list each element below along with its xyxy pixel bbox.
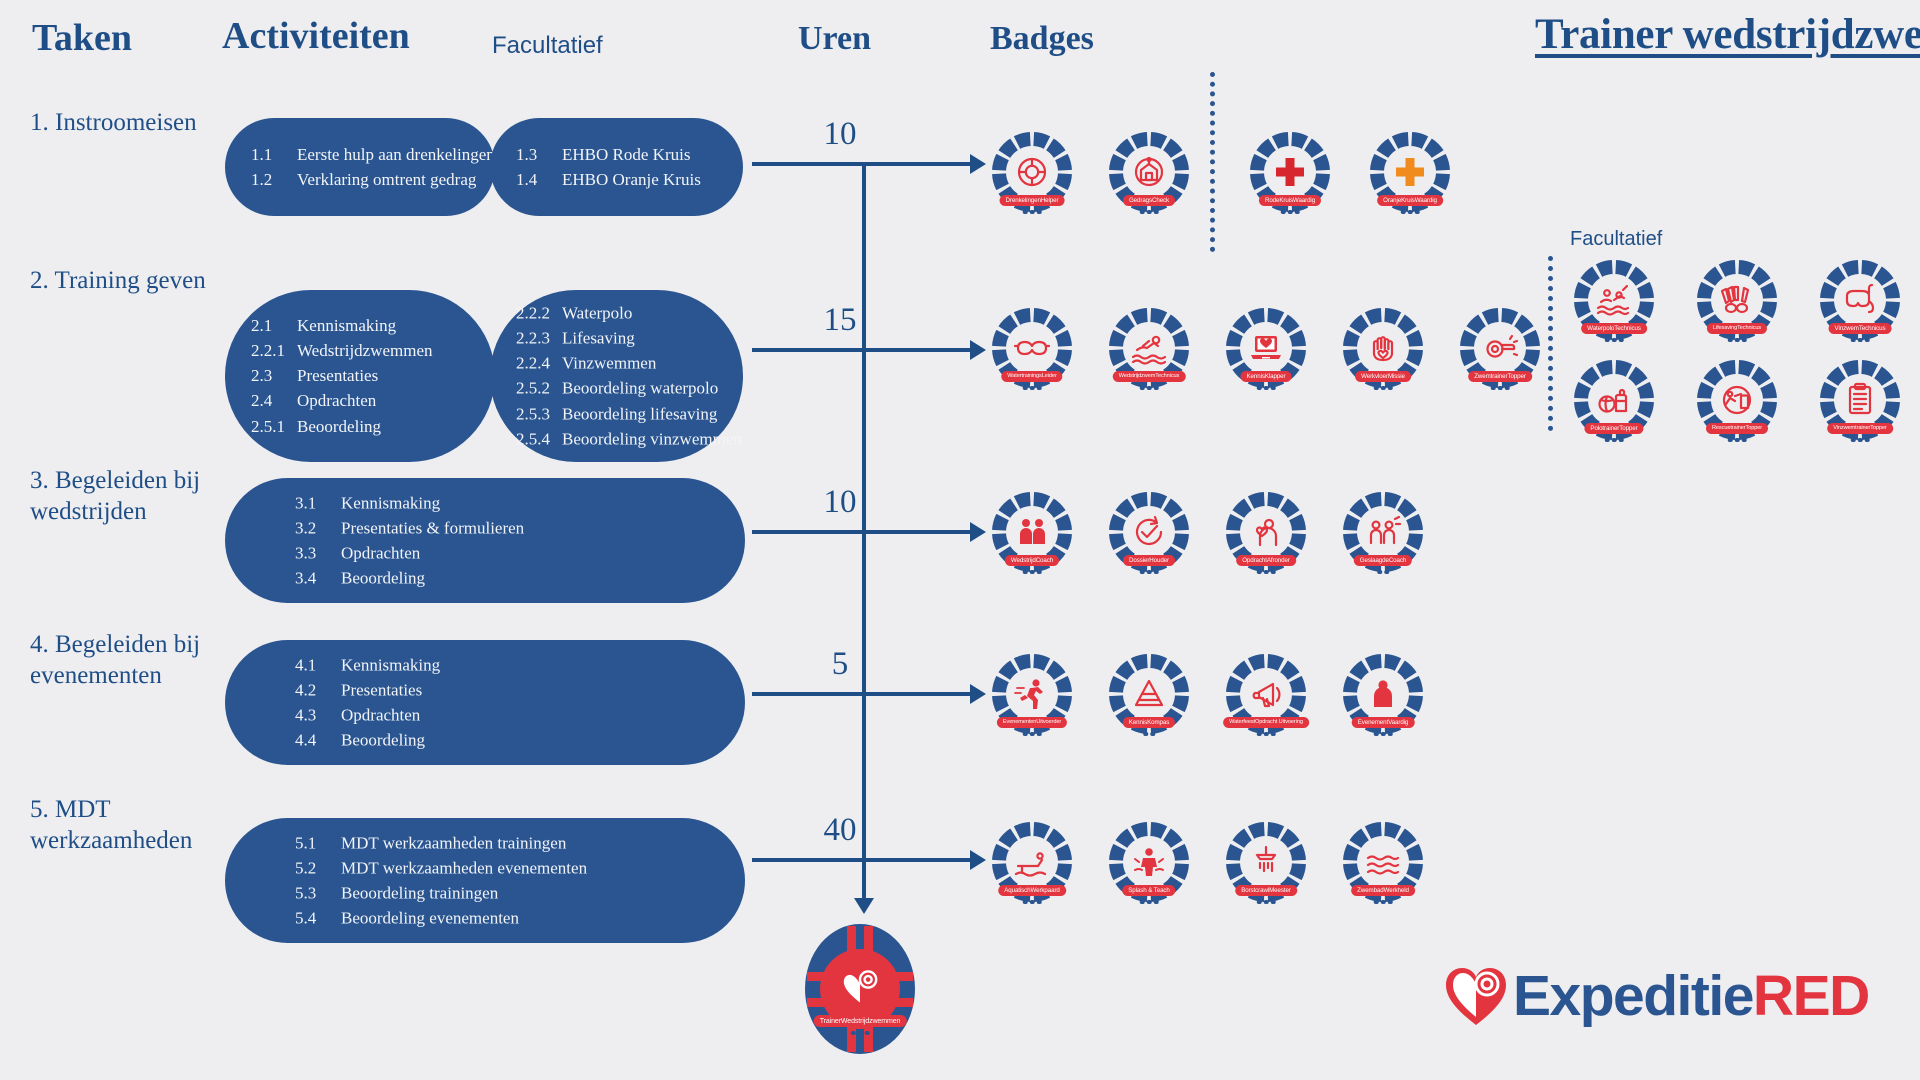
badge-label: EvenementenUitvoerder — [997, 717, 1067, 728]
badge-stars — [1140, 210, 1159, 215]
badge-stars — [1257, 386, 1276, 391]
flow-arrow-head — [970, 850, 986, 870]
activity-item: 2.1Kennismaking — [251, 313, 433, 338]
badge-stars — [1023, 210, 1042, 215]
hours-value: 15 — [795, 302, 885, 339]
badge[interactable]: WedstrijdCoach — [990, 490, 1074, 574]
task-label: 5. MDT werkzaamheden — [30, 795, 235, 856]
badge-stars — [1374, 386, 1393, 391]
hours-value: 10 — [795, 116, 885, 153]
badge-label: KennisKlapper — [1241, 371, 1292, 382]
facultatief-group-label: Facultatief — [1570, 228, 1662, 251]
badge[interactable]: OpdrachtAfronder — [1224, 490, 1308, 574]
badge-stars — [851, 1031, 870, 1036]
activity-item: 4.1Kennismaking — [295, 652, 440, 677]
badge-stars — [1374, 900, 1393, 905]
badge-label: BorstcrawlMeester — [1235, 885, 1297, 896]
page-title: Trainer wedstrijdzwemmen — [1535, 10, 1920, 59]
badge-label: WerkvloerMissie — [1355, 371, 1411, 382]
badge-stars — [1140, 570, 1159, 575]
column-header-badges: Badges — [990, 20, 1094, 58]
infographic-canvas: Taken Activiteiten Facultatief Uren Badg… — [0, 0, 1920, 1080]
badge[interactable]: KennisKlapper — [1224, 306, 1308, 390]
badge[interactable]: WatertrainingsLeider — [990, 306, 1074, 390]
activity-item: 2.2.1Wedstrijdzwemmen — [251, 338, 433, 363]
badge[interactable]: WaterfeestOpdracht Uitvoering — [1224, 652, 1308, 736]
activity-item: 2.4Opdrachten — [251, 389, 433, 414]
activity-item: 3.3Opdrachten — [295, 541, 524, 566]
badge-label: WaterfeestOpdracht Uitvoering — [1223, 717, 1309, 728]
activity-pill-main: 4.1Kennismaking4.2Presentaties4.3Opdrach… — [225, 640, 745, 765]
badge-stars — [1728, 338, 1747, 343]
column-header-taken: Taken — [32, 16, 132, 60]
brand-logo: ExpeditieRED — [1443, 963, 1869, 1029]
badge-stars — [1023, 732, 1042, 737]
badge-stars — [1140, 386, 1159, 391]
badge-optional[interactable]: VinzwemTechnicus — [1818, 258, 1902, 342]
flow-arrow-head — [970, 340, 986, 360]
badge-stars — [1257, 900, 1276, 905]
badge-label: WedstrijdCoach — [1005, 555, 1059, 566]
final-badge[interactable]: TrainerWedstrijdzwemmen — [795, 922, 925, 1057]
badge-label: ZwembadWerkheld — [1351, 885, 1415, 896]
column-header-facultatief: Facultatief — [492, 32, 603, 60]
activity-item: 4.3Opdrachten — [295, 703, 440, 728]
activity-item: 2.3Presentaties — [251, 363, 433, 388]
activity-item: 3.4Beoordeling — [295, 566, 524, 591]
badge-label: AquatischWerkpaard — [998, 885, 1066, 896]
badge-label: EvenementVaardig — [1352, 717, 1415, 728]
badge-optional[interactable]: OranjeKruisWaardig — [1368, 130, 1452, 214]
activity-item-optional: 1.4EHBO Oranje Kruis — [516, 167, 701, 192]
badge-label: VinzwemTechnicus — [1829, 323, 1892, 334]
activity-item-optional: 2.5.3Beoordeling lifesaving — [516, 401, 742, 426]
badge-stars — [1401, 210, 1420, 215]
badge-label: OpdrachtAfronder — [1236, 555, 1296, 566]
task-label: 4. Begeleiden bij evenementen — [30, 630, 235, 691]
badge-stars — [1257, 570, 1276, 575]
activity-item-optional: 2.5.2Beoordeling waterpolo — [516, 376, 742, 401]
task-label: 3. Begeleiden bij wedstrijden — [30, 466, 235, 527]
badge-stars — [1143, 732, 1155, 737]
activity-item-optional: 2.2.3Lifesaving — [516, 326, 742, 351]
badge-stars — [1728, 438, 1747, 443]
badge[interactable]: WerkvloerMissie — [1341, 306, 1425, 390]
hours-value: 10 — [795, 484, 885, 521]
badge-label: RescuetrainerTopper — [1706, 423, 1768, 434]
badge-stars — [1851, 438, 1870, 443]
badge-optional[interactable]: LifesavingTechnicus — [1695, 258, 1779, 342]
badge-optional[interactable]: RescuetrainerTopper — [1695, 358, 1779, 442]
badge-label: PolotrainerTopper — [1584, 423, 1643, 434]
badge-label: DossierHouder — [1123, 555, 1175, 566]
activity-pill-main: 1.1Eerste hulp aan drenkelingen1.2Verkla… — [225, 118, 495, 216]
badge-stars — [1023, 900, 1042, 905]
activity-item: 4.4Beoordeling — [295, 728, 440, 753]
logo-text-prefix: Expeditie — [1513, 964, 1753, 1028]
heart-lifebuoy-logo-icon — [1443, 965, 1509, 1027]
badge[interactable]: GeslaagdeCoach — [1341, 490, 1425, 574]
badge-label: DrenkelingenHelper — [1000, 195, 1065, 206]
badge-label: TrainerWedstrijdzwemmen — [814, 1015, 907, 1027]
badge[interactable]: DrenkelingenHelper — [990, 130, 1074, 214]
badge[interactable]: EvenementVaardig — [1341, 652, 1425, 736]
badge-label: WedstrijdzwemTechnicus — [1113, 371, 1186, 382]
badge-stars — [1023, 570, 1042, 575]
badge-stars — [1257, 732, 1276, 737]
badge-label: KennisKompas — [1123, 717, 1175, 728]
badge[interactable]: AquatischWerkpaard — [990, 820, 1074, 904]
badge-stars — [1491, 386, 1510, 391]
badge-label: GeslaagdeCoach — [1354, 555, 1412, 566]
badge-label: WatertrainingsLeider — [1001, 371, 1062, 382]
activity-item: 3.1Kennismaking — [295, 490, 524, 515]
activity-item: 4.2Presentaties — [295, 677, 440, 702]
column-header-activiteiten: Activiteiten — [222, 14, 410, 58]
badge-label: WaterpoloTechnicus — [1581, 323, 1647, 334]
activity-pill-optional: 1.3EHBO Rode Kruis1.4EHBO Oranje Kruis — [490, 118, 743, 216]
badge-optional[interactable]: PolotrainerTopper — [1572, 358, 1656, 442]
task-label: 2. Training geven — [30, 266, 235, 297]
activity-pill-main: 2.1Kennismaking2.2.1Wedstrijdzwemmen2.3P… — [225, 290, 495, 462]
flow-arrow-head — [970, 154, 986, 174]
badge-label: OranjeKruisWaardig — [1377, 195, 1443, 206]
badge[interactable]: WedstrijdzwemTechnicus — [1107, 306, 1191, 390]
task-label: 1. Instroomeisen — [30, 108, 235, 139]
flow-spine-arrow — [854, 898, 874, 914]
hours-value: 5 — [795, 646, 885, 683]
activity-item: 5.3Beoordeling trainingen — [295, 881, 587, 906]
activity-item-optional: 1.3EHBO Rode Kruis — [516, 142, 701, 167]
activity-item: 1.2Verklaring omtrent gedrag — [251, 167, 495, 192]
badge-label: RodeKruisWaardig — [1259, 195, 1321, 206]
badge[interactable]: ZwembadWerkheld — [1341, 820, 1425, 904]
activity-item-optional: 2.2.2Waterpolo — [516, 301, 742, 326]
badge-optional[interactable]: VinzwemtrainerTopper — [1818, 358, 1902, 442]
badge-stars — [1140, 900, 1159, 905]
divider-training-facultatief — [1548, 256, 1553, 431]
badge-optional[interactable]: RodeKruisWaardig — [1248, 130, 1332, 214]
badge-stars — [1281, 210, 1300, 215]
badge-stars — [1605, 438, 1624, 443]
badge-stars — [1374, 732, 1393, 737]
activity-item: 5.2MDT werkzaamheden evenementen — [295, 855, 587, 880]
activity-item: 5.1MDT werkzaamheden trainingen — [295, 830, 587, 855]
badge[interactable]: GedragsCheck — [1107, 130, 1191, 214]
badge-stars — [1605, 338, 1624, 343]
activity-pill-main: 3.1Kennismaking3.2Presentaties & formuli… — [225, 478, 745, 603]
badge-label: GedragsCheck — [1123, 195, 1175, 206]
badge[interactable]: DossierHouder — [1107, 490, 1191, 574]
badge-label: VinzwemtrainerTopper — [1827, 423, 1893, 434]
flow-spine — [862, 162, 866, 902]
badge[interactable]: BorstcrawlMeester — [1224, 820, 1308, 904]
activity-item-optional: 2.5.4Beoordeling vinzwemmen — [516, 426, 742, 451]
logo-text-suffix: RED — [1753, 964, 1869, 1028]
activity-item: 3.2Presentaties & formulieren — [295, 515, 524, 540]
activity-pill-main: 5.1MDT werkzaamheden trainingen5.2MDT we… — [225, 818, 745, 943]
badge-stars — [1023, 386, 1042, 391]
flow-arrow-head — [970, 684, 986, 704]
activity-item-optional: 2.2.4Vinzwemmen — [516, 351, 742, 376]
flow-arrow-head — [970, 522, 986, 542]
badge[interactable]: ZwemtrainerTopper — [1458, 306, 1542, 390]
activity-item: 5.4Beoordeling evenementen — [295, 906, 587, 931]
badge-optional[interactable]: WaterpoloTechnicus — [1572, 258, 1656, 342]
activity-pill-optional: 2.2.2Waterpolo2.2.3Lifesaving2.2.4Vinzwe… — [490, 290, 743, 462]
activity-item: 2.5.1Beoordeling — [251, 414, 433, 439]
divider-instroom-facultatief — [1210, 72, 1215, 252]
hours-value: 40 — [795, 812, 885, 849]
column-header-uren: Uren — [798, 20, 871, 58]
activity-item: 1.1Eerste hulp aan drenkelingen — [251, 142, 495, 167]
badge-stars — [1377, 570, 1389, 575]
badge[interactable]: Splash & Teach — [1107, 820, 1191, 904]
badge[interactable]: KennisKompas — [1107, 652, 1191, 736]
badge-label: LifesavingTechnicus — [1707, 323, 1767, 334]
badge-label: Splash & Teach — [1122, 885, 1175, 896]
badge-stars — [1851, 338, 1870, 343]
badge[interactable]: EvenementenUitvoerder — [990, 652, 1074, 736]
badge-label: ZwemtrainerTopper — [1468, 371, 1532, 382]
